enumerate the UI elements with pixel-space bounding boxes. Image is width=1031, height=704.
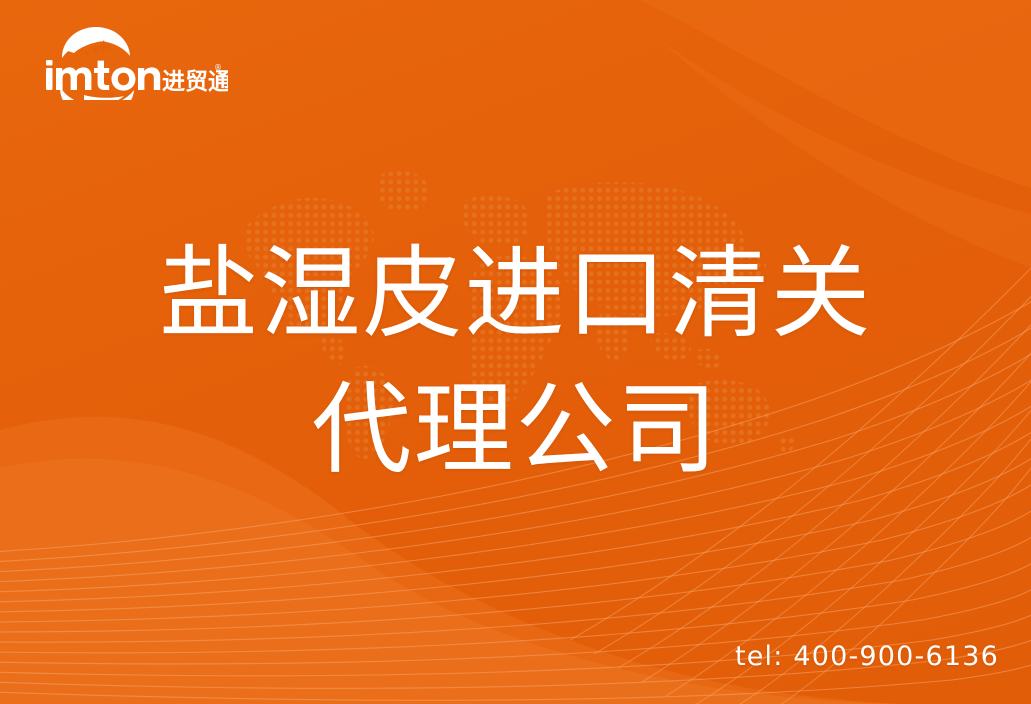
logo-chinese-name: 进贸通 — [162, 69, 228, 95]
page-title-line-1: 盐湿皮进口清关 — [0, 226, 1031, 362]
page-title-line-2: 代理公司 — [0, 362, 1031, 498]
company-logo[interactable]: 进贸通 ® — [38, 26, 228, 100]
trademark-icon: ® — [214, 63, 222, 72]
logo-wordmark — [46, 60, 160, 91]
promo-poster: 进贸通 ® 盐湿皮进口清关 代理公司 tel: 400-900-6136 — [0, 0, 1031, 704]
globe-arc-icon — [62, 27, 130, 58]
page-title: 盐湿皮进口清关 代理公司 — [0, 226, 1031, 498]
contact-phone: tel: 400-900-6136 — [735, 641, 999, 672]
